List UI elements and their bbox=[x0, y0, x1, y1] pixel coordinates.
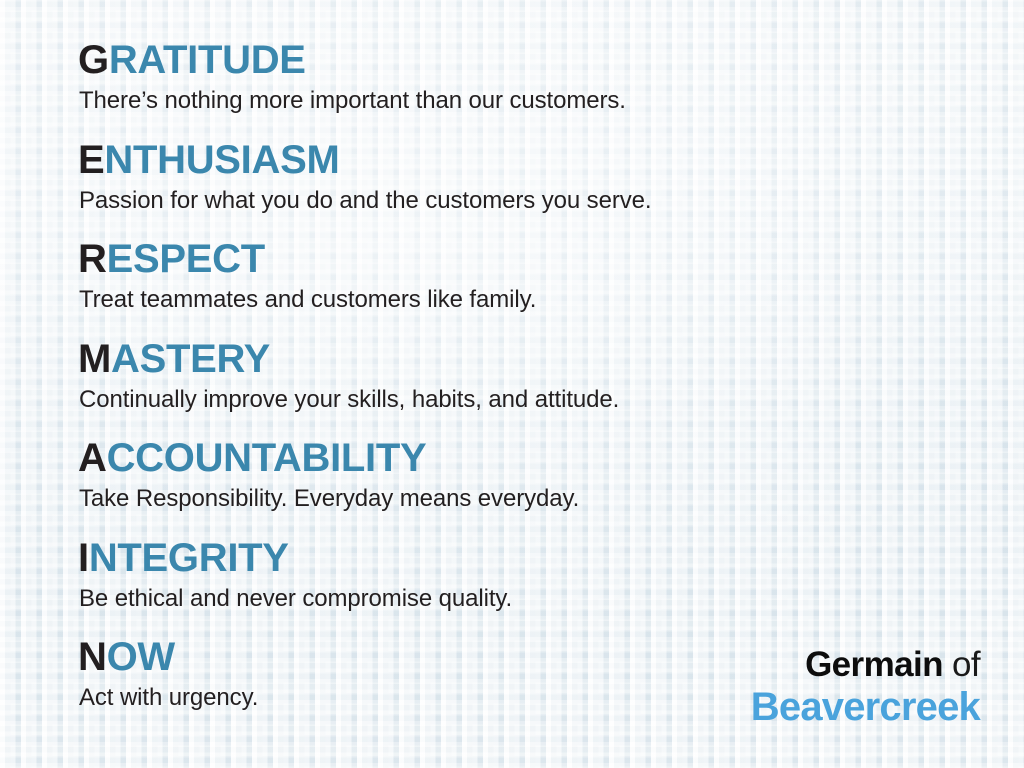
value-heading-remainder: RATITUDE bbox=[109, 38, 306, 82]
value-heading-initial: I bbox=[78, 536, 89, 580]
value-block-integrity: INTEGRITY Be ethical and never compromis… bbox=[78, 536, 978, 636]
value-block-gratitude: GRATITUDE There’s nothing more important… bbox=[78, 38, 978, 138]
value-heading-initial: M bbox=[78, 337, 111, 381]
value-heading-gratitude: GRATITUDE bbox=[78, 38, 978, 82]
value-heading-initial: N bbox=[78, 635, 107, 679]
value-heading-initial: E bbox=[78, 138, 104, 182]
value-block-accountability: ACCOUNTABILITY Take Responsibility. Ever… bbox=[78, 436, 978, 536]
brand-connector bbox=[943, 645, 952, 684]
value-block-enthusiasm: ENTHUSIASM Passion for what you do and t… bbox=[78, 138, 978, 238]
brand-logo-line-primary: Germain of bbox=[751, 646, 980, 684]
value-heading-remainder: OW bbox=[107, 635, 175, 679]
value-description-mastery: Continually improve your skills, habits,… bbox=[79, 385, 978, 415]
core-values-list: GRATITUDE There’s nothing more important… bbox=[78, 38, 978, 735]
value-heading-remainder: ESPECT bbox=[107, 237, 265, 281]
value-block-respect: RESPECT Treat teammates and customers li… bbox=[78, 237, 978, 337]
value-description-accountability: Take Responsibility. Everyday means ever… bbox=[79, 484, 978, 514]
value-heading-accountability: ACCOUNTABILITY bbox=[78, 436, 978, 480]
value-heading-remainder: NTEGRITY bbox=[89, 536, 289, 580]
value-block-mastery: MASTERY Continually improve your skills,… bbox=[78, 337, 978, 437]
value-description-respect: Treat teammates and customers like famil… bbox=[79, 285, 978, 315]
value-description-gratitude: There’s nothing more important than our … bbox=[79, 86, 978, 116]
value-heading-mastery: MASTERY bbox=[78, 337, 978, 381]
value-heading-integrity: INTEGRITY bbox=[78, 536, 978, 580]
value-heading-enthusiasm: ENTHUSIASM bbox=[78, 138, 978, 182]
value-heading-remainder: NTHUSIASM bbox=[104, 138, 339, 182]
value-description-integrity: Be ethical and never compromise quality. bbox=[79, 584, 978, 614]
brand-logo: Germain of Beavercreek bbox=[751, 646, 980, 728]
value-description-enthusiasm: Passion for what you do and the customer… bbox=[79, 186, 978, 216]
value-heading-respect: RESPECT bbox=[78, 237, 978, 281]
value-heading-remainder: CCOUNTABILITY bbox=[107, 436, 427, 480]
brand-location: Beavercreek bbox=[751, 686, 980, 728]
value-heading-initial: A bbox=[78, 436, 107, 480]
value-heading-remainder: ASTERY bbox=[111, 337, 270, 381]
brand-connector-word: of bbox=[952, 645, 980, 684]
value-heading-initial: R bbox=[78, 237, 107, 281]
brand-name: Germain bbox=[805, 645, 943, 684]
value-heading-initial: G bbox=[78, 38, 109, 82]
